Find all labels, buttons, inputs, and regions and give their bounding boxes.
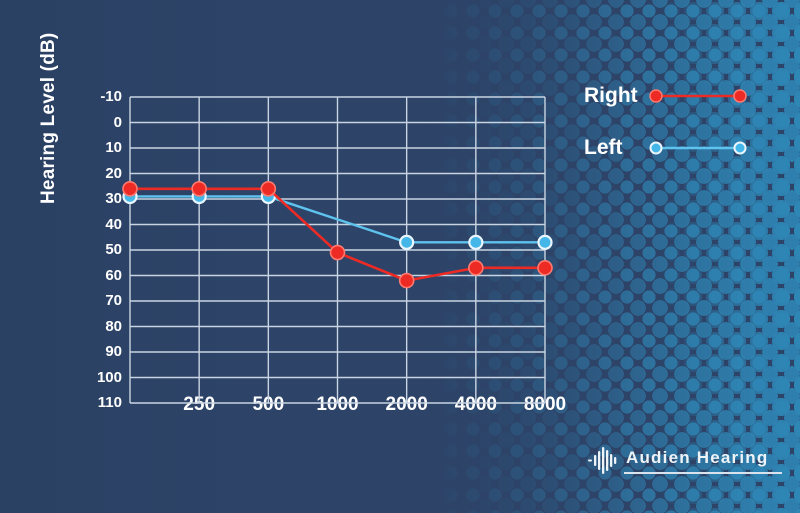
legend-label-right: Right [584, 84, 638, 108]
data-point-right[interactable] [331, 246, 345, 260]
data-point-left[interactable] [469, 236, 482, 249]
audiogram-plot [0, 0, 800, 513]
data-point-right[interactable] [400, 274, 414, 288]
data-point-right[interactable] [261, 182, 275, 196]
data-point-right[interactable] [538, 261, 552, 275]
data-point-right[interactable] [123, 182, 137, 196]
legend-marker-right [734, 90, 746, 102]
brand-name: Audien Hearing [626, 448, 768, 468]
legend-marker-right [650, 90, 662, 102]
data-point-right[interactable] [469, 261, 483, 275]
data-point-right[interactable] [192, 182, 206, 196]
legend-label-left: Left [584, 136, 623, 160]
soundwave-icon [588, 446, 622, 476]
legend [650, 90, 746, 154]
brand-logo: Audien Hearing [588, 448, 784, 492]
data-point-left[interactable] [539, 236, 552, 249]
brand-underline [624, 472, 782, 474]
audiogram-infographic: Hearing Level (dB) -10010203040506070809… [0, 0, 800, 513]
legend-marker-left [651, 143, 662, 154]
data-point-left[interactable] [400, 236, 413, 249]
legend-marker-left [735, 143, 746, 154]
